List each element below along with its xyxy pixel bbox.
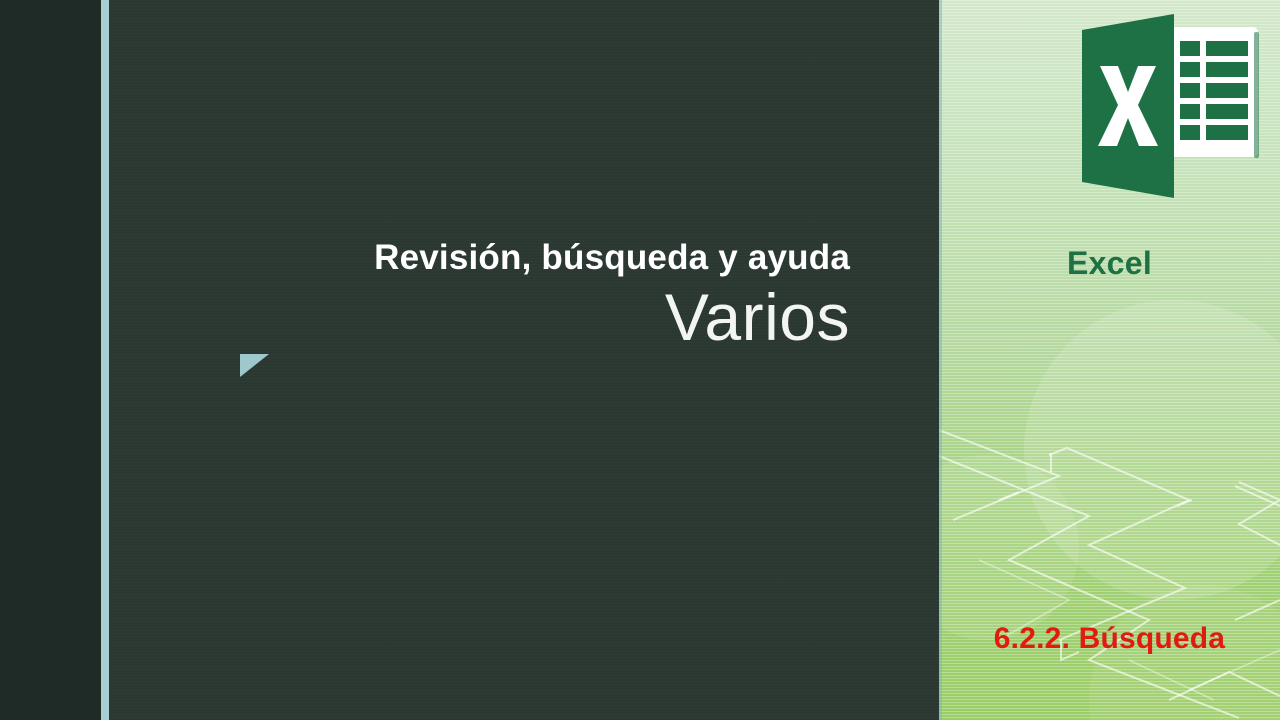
left-edge-band <box>0 0 101 720</box>
slide-title: Revisión, búsqueda y ayuda <box>300 238 850 279</box>
triangle-bullet-icon <box>240 354 269 377</box>
section-label: 6.2.2. Búsqueda <box>939 622 1280 656</box>
slide-subtitle: Varios <box>300 283 850 352</box>
vertical-accent-rule <box>101 0 109 720</box>
excel-logo <box>1070 8 1266 204</box>
panel-diagonal-texture <box>109 0 939 720</box>
app-label: Excel <box>939 245 1280 282</box>
title-block: Revisión, búsqueda y ayuda Varios <box>300 238 850 352</box>
main-content-panel <box>109 0 939 720</box>
decorative-circle <box>1024 300 1280 600</box>
side-panel-left-edge <box>939 0 942 720</box>
panel-scanline-texture <box>109 0 939 720</box>
decorative-circle <box>939 455 1079 640</box>
presentation-slide: Revisión, búsqueda y ayuda Varios <box>0 0 1280 720</box>
